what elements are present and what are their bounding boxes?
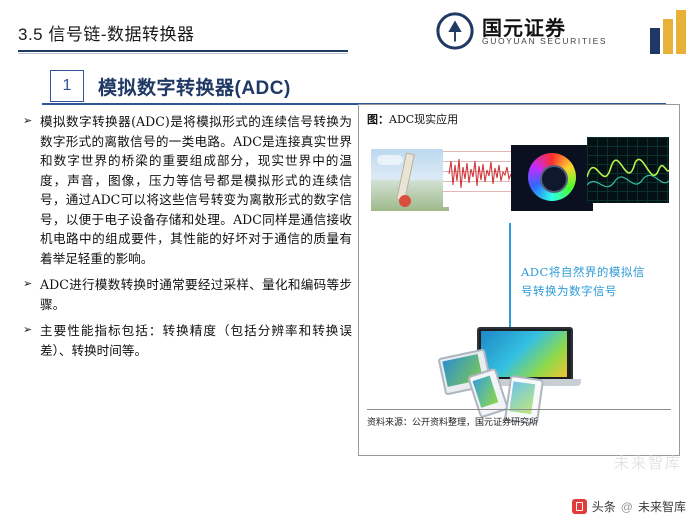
footer-brand-sep: @ (621, 500, 633, 514)
list-item: ➢ 主要性能指标包括：转换精度（包括分辨率和转换误差）、转换时间等。 (22, 321, 352, 360)
list-item: ➢ ADC进行模数转换时通常要经过采样、量化和编码等步骤。 (22, 275, 352, 314)
bullet-text: 模拟数字转换器(ADC)是将模拟形式的连续信号转换为数字形式的离散信号的一类电路… (40, 112, 352, 268)
bullet-text: ADC进行模数转换时通常要经过采样、量化和编码等步骤。 (40, 275, 352, 314)
header-divider (18, 50, 348, 52)
bullet-text: 主要性能指标包括：转换精度（包括分辨率和转换误差）、转换时间等。 (40, 321, 352, 360)
footer-brand-name: 未来智库 (638, 498, 686, 515)
page-header: 3.5 信号链-数据转换器 国元证券 GUOYUAN SECURITIES (0, 0, 700, 62)
arrow-annotation: ADC将自然界的模拟信号转换为数字信号 (521, 263, 651, 301)
brand-logo: 国元证券 GUOYUAN SECURITIES (436, 10, 686, 54)
bullet-arrow-icon: ➢ (23, 277, 32, 290)
color-wheel-photo (511, 145, 593, 211)
content-bullets: ➢ 模拟数字转换器(ADC)是将模拟形式的连续信号转换为数字形式的离散信号的一类… (22, 112, 352, 367)
figure-caption-text: ADC现实应用 (389, 113, 458, 126)
guoyuan-arrow-circle-icon (436, 12, 474, 50)
list-item: ➢ 模拟数字转换器(ADC)是将模拟形式的连续信号转换为数字形式的离散信号的一类… (22, 112, 352, 268)
page-footer: 未来智库 头条 @ 未来智库 (0, 481, 700, 525)
sound-waveform-photo (443, 141, 517, 207)
section-title: 模拟数字转换器(ADC) (98, 73, 291, 100)
brand-bars-decoration (650, 10, 686, 54)
watermark: 未来智库 (614, 452, 682, 473)
bullet-arrow-icon: ➢ (23, 323, 32, 336)
laptop-tablet-phone-illustration (433, 327, 603, 403)
page-title: 3.5 信号链-数据转换器 (18, 20, 195, 45)
bullet-arrow-icon: ➢ (23, 114, 32, 127)
header-divider-light (18, 53, 348, 54)
toutiao-logo-icon (572, 499, 587, 514)
figure-caption: 图：ADC现实应用 (367, 111, 458, 127)
footer-brand: 头条 @ 未来智库 (572, 498, 686, 515)
footer-brand-prefix: 头条 (592, 498, 616, 515)
thermometer-photo (371, 149, 449, 211)
figure-source: 资料来源：公开资料整理，国元证券研究所 (367, 415, 538, 428)
section-number: 1 (50, 70, 84, 102)
figure-panel: 图：ADC现实应用 ADC将自 (358, 104, 680, 456)
figure-divider (367, 409, 671, 410)
oscilloscope-signal-photo (587, 137, 669, 203)
brand-name-en: GUOYUAN SECURITIES (482, 36, 607, 46)
image-collage (371, 131, 669, 213)
section-heading: 1 模拟数字转换器(ADC) (42, 70, 666, 104)
figure-caption-label: 图： (367, 113, 389, 126)
